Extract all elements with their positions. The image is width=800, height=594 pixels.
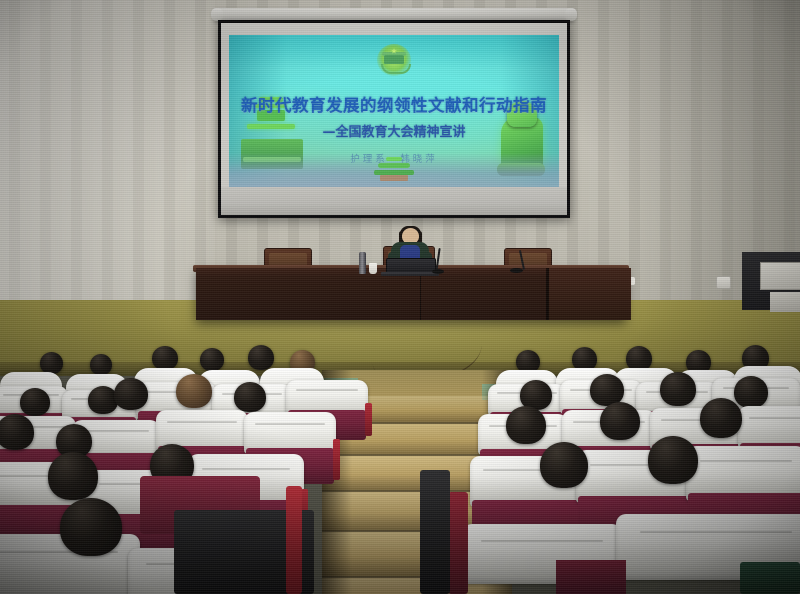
seat-frame-dark: [420, 470, 450, 594]
student-head: [700, 398, 742, 438]
student-head: [0, 414, 34, 450]
national-emblem-icon: [377, 44, 411, 76]
projection-screen-surface: 新时代教育发展的纲领性文献和行动指南 —全国教育大会精神宣讲 护理系 韩晓萍: [221, 23, 567, 215]
table-seam-right: [546, 268, 548, 320]
student-head: [648, 436, 698, 484]
student-head: [114, 378, 148, 410]
student-head: [734, 376, 768, 408]
student-head: [176, 374, 212, 408]
wall-outlet-right: [716, 276, 731, 289]
student-head-foreground: [60, 498, 122, 556]
slide-title: 新时代教育发展的纲领性文献和行动指南: [229, 92, 559, 116]
screen-blank-band: [221, 187, 567, 215]
student-head: [40, 352, 63, 374]
microphone-base-left: [432, 269, 444, 274]
cabinet-panel-lower: [770, 292, 800, 312]
seat-side-panel-maroon: [448, 492, 468, 594]
seat-side-panel-red: [286, 486, 302, 594]
wall-left-highlight: [0, 0, 215, 340]
temple-pavilion-icon: [374, 157, 414, 181]
seat-backrest-maroon: [556, 560, 626, 594]
student-head: [20, 388, 50, 416]
table-seam-left: [420, 270, 421, 320]
student-head: [152, 346, 178, 370]
slide-subtitle: —全国教育大会精神宣讲: [229, 121, 559, 140]
microphone-base-right: [510, 268, 523, 273]
paper-cup: [369, 263, 377, 274]
student-head: [660, 372, 696, 406]
student-head: [248, 345, 274, 370]
student-head: [90, 354, 112, 375]
laptop-base: [381, 272, 439, 276]
projection-screen-frame: 新时代教育发展的纲领性文献和行动指南 —全国教育大会精神宣讲 护理系 韩晓萍: [218, 20, 570, 218]
presentation-slide: 新时代教育发展的纲领性文献和行动指南 —全国教育大会精神宣讲 护理系 韩晓萍: [229, 35, 559, 187]
cabinet-panel-upper: [760, 262, 800, 290]
student-head: [234, 382, 266, 412]
speakers-table-right-section: [548, 268, 631, 320]
lecture-hall-photo: 新时代教育发展的纲领性文献和行动指南 —全国教育大会精神宣讲 护理系 韩晓萍: [0, 0, 800, 594]
student-head: [506, 406, 546, 444]
thermos-flask: [359, 252, 366, 274]
student-head: [200, 348, 224, 371]
student-head: [540, 442, 588, 488]
student-green-jacket: [740, 562, 800, 594]
student-head: [600, 402, 640, 440]
student-head: [48, 452, 98, 500]
